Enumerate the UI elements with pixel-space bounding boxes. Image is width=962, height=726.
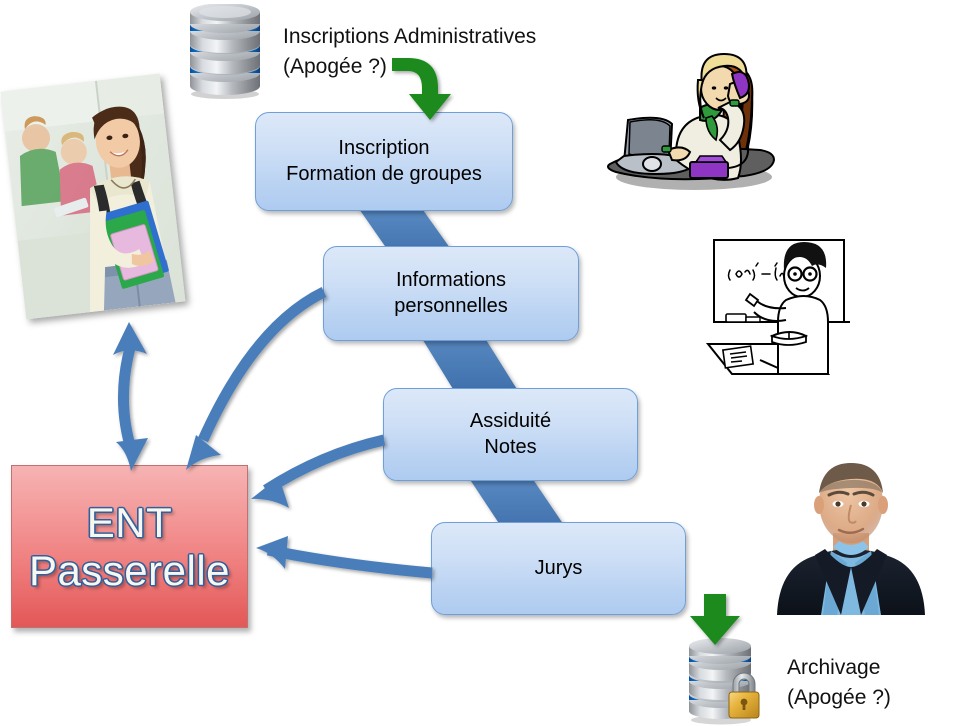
- ent-passerelle-box[interactable]: ENT Passerelle: [11, 465, 248, 628]
- ent-title-line2: Passerelle: [29, 547, 230, 594]
- box-inscription-line2: Formation de groupes: [286, 162, 482, 188]
- process-box-jurys[interactable]: Jurys: [431, 522, 686, 615]
- teacher-whiteboard-clipart: [700, 232, 860, 382]
- process-box-informations[interactable]: Informations personnelles: [323, 246, 579, 341]
- student-photo: [1, 74, 186, 320]
- director-photo: [761, 455, 941, 615]
- box-inscription-line1: Inscription: [286, 136, 482, 162]
- arrow-student-ent: [113, 322, 148, 471]
- box-assiduite-line2: Notes: [470, 435, 551, 461]
- process-box-assiduite[interactable]: Assiduité Notes: [383, 388, 638, 481]
- box-jurys-line1: Jurys: [535, 556, 583, 582]
- diagram-canvas: Inscription Formation de groupes Informa…: [0, 0, 962, 726]
- box-informations-line1: Informations: [394, 268, 507, 294]
- database-icon: [183, 4, 267, 100]
- arrow-assiduite-ent: [251, 440, 384, 508]
- arrow-jurys-ent: [256, 536, 432, 573]
- box-assiduite-line1: Assiduité: [470, 409, 551, 435]
- secretary-clipart: [604, 44, 784, 194]
- caption-source-line1: Inscriptions Administratives: [283, 22, 536, 52]
- caption-archive-line1: Archivage: [787, 653, 880, 683]
- ent-title-line1: ENT: [87, 499, 173, 546]
- arrow-informations-ent: [186, 292, 324, 470]
- process-box-inscription[interactable]: Inscription Formation de groupes: [255, 112, 513, 211]
- caption-archive-line2: (Apogée ?): [787, 683, 891, 713]
- caption-source-line2: (Apogée ?): [283, 52, 387, 82]
- box-informations-line2: personnelles: [394, 294, 507, 320]
- green-curved-arrow-icon: [392, 58, 451, 120]
- database-lock-icon: [681, 638, 773, 726]
